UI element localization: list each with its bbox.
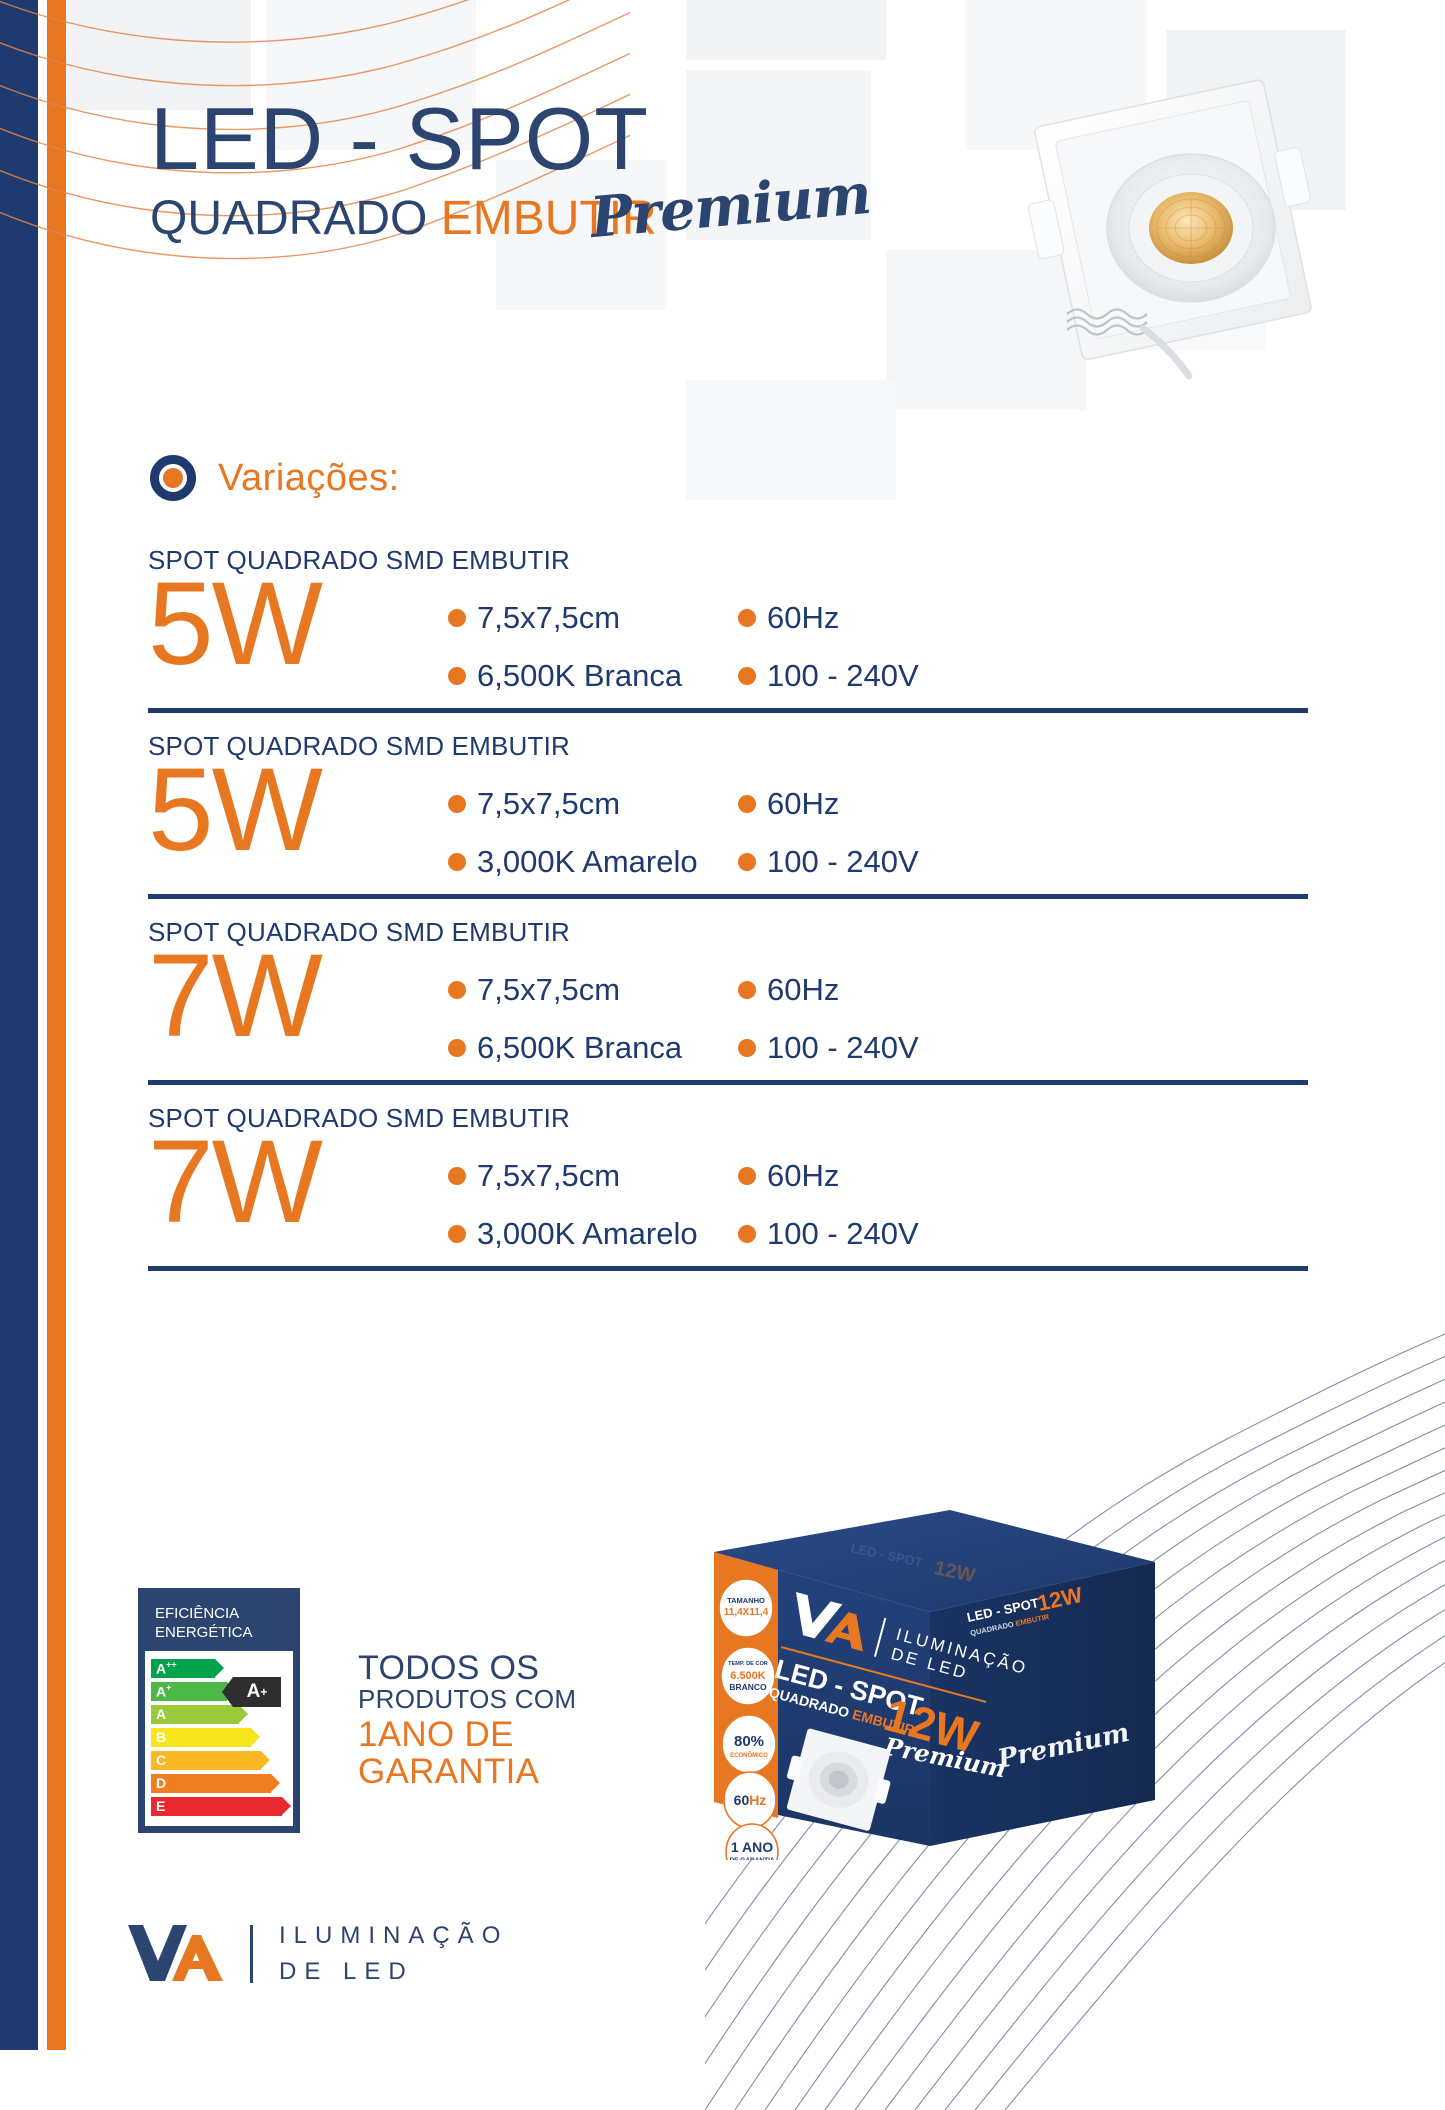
energy-rating-badge: A+ — [233, 1677, 281, 1707]
left-orange-stripe — [47, 0, 66, 2050]
energy-bar-arrow — [151, 1751, 261, 1770]
spec-item: 3,000K Amarelo — [448, 1216, 738, 1252]
row-divider — [148, 1080, 1308, 1085]
spec-item: 100 - 240V — [738, 844, 988, 880]
variation-body: 5W7,5x7,5cm6,500K Branca60Hz100 - 240V — [148, 578, 1308, 694]
spec-column: 60Hz100 - 240V — [738, 972, 988, 1066]
svg-text:11,4X11,4: 11,4X11,4 — [724, 1607, 769, 1618]
energy-bar-label: C — [156, 1753, 166, 1767]
spec-item: 60Hz — [738, 972, 988, 1008]
variations-label: Variações: — [218, 457, 400, 500]
variation-specs: 7,5x7,5cm3,000K Amarelo60Hz100 - 240V — [448, 764, 988, 880]
energy-efficiency-label: EFICIÊNCIA ENERGÉTICA A++A+ABCDE A+ — [138, 1588, 300, 1833]
spec-column: 60Hz100 - 240V — [738, 1158, 988, 1252]
spec-item: 100 - 240V — [738, 658, 988, 694]
spec-column: 60Hz100 - 240V — [738, 600, 988, 694]
page-header: LED - SPOT QUADRADO EMBUTIR Premium — [150, 95, 850, 243]
energy-bar-label: A++ — [156, 1661, 177, 1676]
warranty-line4: GARANTIA — [358, 1753, 576, 1790]
variation-row: SPOT QUADRADO SMD EMBUTIR7W7,5x7,5cm3,00… — [148, 1103, 1308, 1262]
warranty-line2: PRODUTOS COM — [358, 1686, 576, 1714]
spec-label: 100 - 240V — [767, 1216, 919, 1252]
bullet-icon — [448, 1167, 466, 1185]
variations-list: SPOT QUADRADO SMD EMBUTIR5W7,5x7,5cm6,50… — [148, 545, 1308, 1289]
svg-text:1 ANO: 1 ANO — [731, 1839, 773, 1855]
bullet-icon — [738, 1039, 756, 1057]
bullet-icon — [738, 981, 756, 999]
energy-bar-arrow — [151, 1797, 282, 1816]
svg-text:ECONÔMICO: ECONÔMICO — [730, 1751, 768, 1759]
energy-title-line2: ENERGÉTICA — [155, 1624, 283, 1643]
subtitle-dark-part: QUADRADO — [150, 192, 441, 245]
energy-bar-label: A+ — [156, 1684, 171, 1699]
energy-bar-label: A — [156, 1707, 166, 1721]
energy-bar-label: E — [156, 1799, 165, 1813]
energy-class-bar: A — [151, 1705, 287, 1724]
spec-label: 3,000K Amarelo — [477, 844, 698, 880]
variation-wattage: 5W — [148, 570, 448, 679]
variation-row: SPOT QUADRADO SMD EMBUTIR5W7,5x7,5cm3,00… — [148, 731, 1308, 890]
spec-item: 6,500K Branca — [448, 1030, 738, 1066]
energy-class-bar: B — [151, 1728, 287, 1747]
spec-item: 3,000K Amarelo — [448, 844, 738, 880]
spec-label: 7,5x7,5cm — [477, 786, 620, 822]
footer-line2: DE LED — [279, 1954, 508, 1990]
spec-label: 60Hz — [767, 600, 839, 636]
bullet-icon — [448, 1225, 466, 1243]
spec-column: 60Hz100 - 240V — [738, 786, 988, 880]
energy-class-bar: D — [151, 1774, 287, 1793]
bullet-icon — [738, 609, 756, 627]
footer-line1: ILUMINAÇÃO — [279, 1918, 508, 1954]
spec-item: 100 - 240V — [738, 1216, 988, 1252]
energy-label-title: EFICIÊNCIA ENERGÉTICA — [145, 1595, 293, 1651]
svg-text:60Hz: 60Hz — [734, 1792, 767, 1808]
energy-bar-sup: + — [166, 1683, 171, 1693]
bullet-icon — [738, 1225, 756, 1243]
variation-body: 7W7,5x7,5cm6,500K Branca60Hz100 - 240V — [148, 950, 1308, 1066]
variation-specs: 7,5x7,5cm3,000K Amarelo60Hz100 - 240V — [448, 1136, 988, 1252]
svg-text:6.500K: 6.500K — [730, 1670, 766, 1682]
va-logo-icon — [128, 1923, 224, 1985]
spec-item: 60Hz — [738, 600, 988, 636]
bullet-icon — [738, 795, 756, 813]
energy-class-bar: C — [151, 1751, 287, 1770]
energy-class-bar: A++ — [151, 1659, 287, 1678]
spec-item: 7,5x7,5cm — [448, 600, 738, 636]
energy-bar-label: B — [156, 1730, 166, 1744]
page-title: LED - SPOT — [150, 95, 850, 183]
energy-bar-label: D — [156, 1776, 166, 1790]
footer-brand-text: ILUMINAÇÃO DE LED — [279, 1918, 508, 1990]
bullet-icon — [738, 1167, 756, 1185]
variation-wattage: 5W — [148, 756, 448, 865]
spec-item: 7,5x7,5cm — [448, 1158, 738, 1194]
variations-heading: Variações: — [150, 455, 400, 501]
spec-label: 6,500K Branca — [477, 658, 682, 694]
row-divider — [148, 708, 1308, 713]
variation-row: SPOT QUADRADO SMD EMBUTIR7W7,5x7,5cm6,50… — [148, 917, 1308, 1076]
spec-item: 7,5x7,5cm — [448, 972, 738, 1008]
svg-text:80%: 80% — [734, 1733, 764, 1750]
warranty-line3: 1ANO DE — [358, 1716, 576, 1753]
spec-label: 3,000K Amarelo — [477, 1216, 698, 1252]
logo-divider — [250, 1925, 253, 1983]
spec-item: 7,5x7,5cm — [448, 786, 738, 822]
variation-specs: 7,5x7,5cm6,500K Branca60Hz100 - 240V — [448, 950, 988, 1066]
svg-text:DE GARANTIA: DE GARANTIA — [729, 1857, 774, 1860]
svg-text:TEMP. DE COR: TEMP. DE COR — [728, 1661, 768, 1667]
warranty-line1: TODOS OS — [358, 1650, 576, 1686]
bullet-icon — [448, 609, 466, 627]
svg-text:BRANCO: BRANCO — [729, 1682, 767, 1692]
warranty-block: TODOS OS PRODUTOS COM 1ANO DE GARANTIA — [358, 1650, 576, 1790]
spec-item: 60Hz — [738, 1158, 988, 1194]
rating-letter: A — [247, 1681, 261, 1703]
ring-inner-dot — [163, 468, 183, 488]
bullet-icon — [448, 1039, 466, 1057]
footer-brand: ILUMINAÇÃO DE LED — [128, 1918, 508, 1990]
spec-column: 7,5x7,5cm3,000K Amarelo — [448, 786, 738, 880]
variation-body: 7W7,5x7,5cm3,000K Amarelo60Hz100 - 240V — [148, 1136, 1308, 1252]
bullet-icon — [448, 981, 466, 999]
spec-label: 100 - 240V — [767, 844, 919, 880]
spec-label: 100 - 240V — [767, 658, 919, 694]
spec-item: 6,500K Branca — [448, 658, 738, 694]
energy-bar-sup: ++ — [166, 1660, 177, 1670]
product-package-box: TAMANHO 11,4X11,4 TEMP. DE COR 6.500K BR… — [700, 1500, 1200, 1860]
spec-label: 7,5x7,5cm — [477, 600, 620, 636]
spec-column: 7,5x7,5cm3,000K Amarelo — [448, 1158, 738, 1252]
row-divider — [148, 894, 1308, 899]
spec-label: 6,500K Branca — [477, 1030, 682, 1066]
spec-item: 100 - 240V — [738, 1030, 988, 1066]
spec-label: 7,5x7,5cm — [477, 972, 620, 1008]
bullet-icon — [738, 667, 756, 685]
variation-body: 5W7,5x7,5cm3,000K Amarelo60Hz100 - 240V — [148, 764, 1308, 880]
row-divider — [148, 1266, 1308, 1271]
left-navy-stripe — [0, 0, 38, 2050]
bullet-icon — [448, 795, 466, 813]
energy-class-bar: E — [151, 1797, 287, 1816]
spec-label: 100 - 240V — [767, 1030, 919, 1066]
product-photo-led-spot — [1015, 78, 1345, 428]
spec-label: 7,5x7,5cm — [477, 1158, 620, 1194]
spec-column: 7,5x7,5cm6,500K Branca — [448, 972, 738, 1066]
spec-column: 7,5x7,5cm6,500K Branca — [448, 600, 738, 694]
energy-title-line1: EFICIÊNCIA — [155, 1605, 283, 1624]
spec-label: 60Hz — [767, 972, 839, 1008]
bullet-icon — [738, 853, 756, 871]
target-ring-icon — [150, 455, 196, 501]
variation-specs: 7,5x7,5cm6,500K Branca60Hz100 - 240V — [448, 578, 988, 694]
variation-wattage: 7W — [148, 1128, 448, 1237]
energy-bar-arrow — [151, 1774, 271, 1793]
variation-wattage: 7W — [148, 942, 448, 1051]
svg-text:TAMANHO: TAMANHO — [727, 1596, 765, 1605]
energy-label-scale: A++A+ABCDE A+ — [145, 1651, 293, 1826]
spec-label: 60Hz — [767, 786, 839, 822]
bullet-icon — [448, 667, 466, 685]
bullet-icon — [448, 853, 466, 871]
spec-label: 60Hz — [767, 1158, 839, 1194]
variation-row: SPOT QUADRADO SMD EMBUTIR5W7,5x7,5cm6,50… — [148, 545, 1308, 704]
rating-sup: + — [260, 1685, 267, 1699]
spec-item: 60Hz — [738, 786, 988, 822]
